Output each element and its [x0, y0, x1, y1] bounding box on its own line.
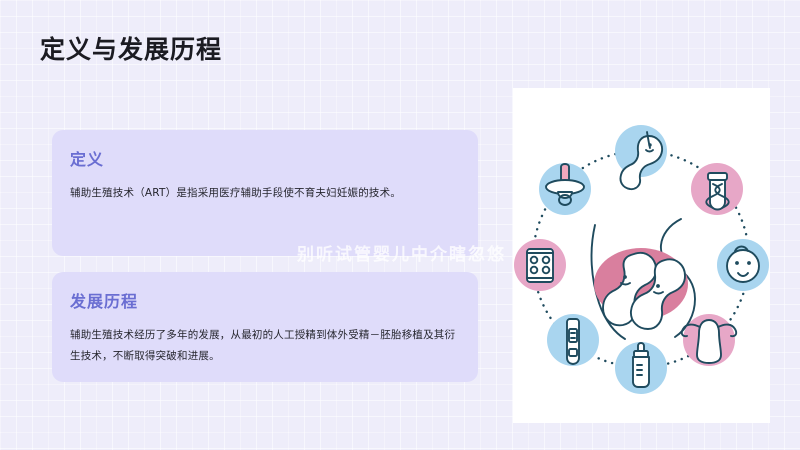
card-history-body: 辅助生殖技术经历了多年的发展，从最初的人工授精到体外受精－胚胎移植及其衍生技术，… [70, 325, 460, 367]
fetus-icon [615, 125, 667, 189]
card-definition-heading: 定义 [70, 146, 460, 170]
page-title: 定义与发展历程 [40, 30, 222, 66]
card-history-heading: 发展历程 [70, 288, 460, 312]
pregnancy-test-icon [547, 314, 599, 366]
card-definition-body: 辅助生殖技术（ART）是指采用医疗辅助手段使不育夫妇妊娠的技术。 [70, 183, 460, 204]
illustration-svg: .ln { fill:none; stroke:#1f4b5e; stroke-… [513, 88, 770, 423]
slide-canvas: 定义与发展历程 定义 辅助生殖技术（ART）是指采用医疗辅助手段使不育夫妇妊娠的… [0, 0, 800, 450]
baby-bottle-icon [615, 342, 667, 394]
pacifier-icon [539, 163, 591, 215]
card-definition: 定义 辅助生殖技术（ART）是指采用医疗辅助手段使不育夫妇妊娠的技术。 [52, 130, 478, 256]
pill-blister-icon [514, 239, 566, 291]
card-history: 发展历程 辅助生殖技术经历了多年的发展，从最初的人工授精到体外受精－胚胎移植及其… [52, 272, 478, 382]
illustration-panel: .ln { fill:none; stroke:#1f4b5e; stroke-… [513, 88, 770, 423]
baby-face-icon [717, 239, 769, 291]
pregnant-belly-with-twins [592, 219, 695, 339]
dna-test-tube-icon [691, 163, 743, 215]
